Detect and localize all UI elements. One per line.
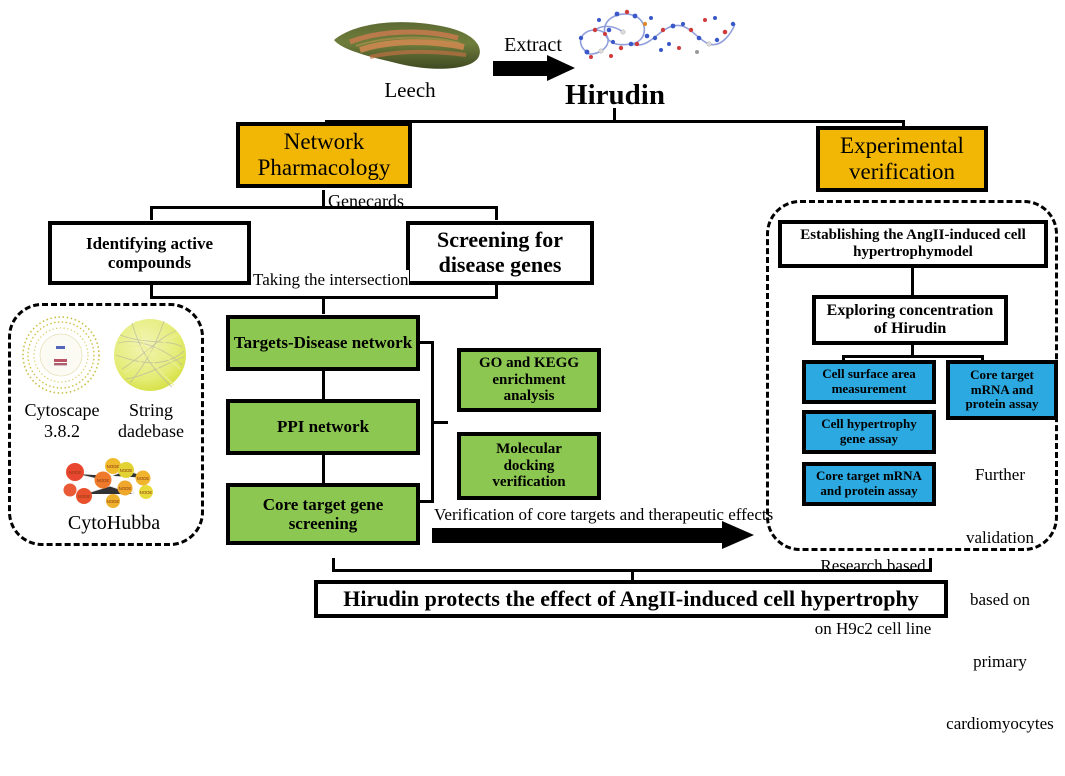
cytohubba-nodes-icon: NODENODENODE NODENODENODE NODENODENODE	[58, 448, 174, 510]
blue-left-1-line2: measurement	[832, 382, 907, 397]
experimental-verification-box[interactable]: Experimental verification	[816, 126, 988, 192]
verification-block-arrow-icon	[432, 521, 756, 549]
green-box-3-line1: Core target gene	[263, 495, 384, 514]
cytoscape-label-line2: 3.8.2	[10, 421, 114, 442]
analysis-bracket-stem	[432, 421, 448, 424]
core-target-assay-h9c2-box[interactable]: Core target mRNA and protein assay	[802, 462, 936, 506]
blue-left-1-line1: Cell surface area	[822, 367, 916, 382]
blue-left-2-line1: Cell hypertrophy	[821, 417, 916, 432]
further-line4: primary	[936, 652, 1064, 673]
cell-hypertrophy-gene-assay-box[interactable]: Cell hypertrophy gene assay	[802, 410, 936, 454]
identify-line2: compounds	[108, 253, 191, 272]
cytoscape-network-circle-icon	[20, 314, 102, 396]
further-validation-caption: Further validation based on primary card…	[936, 424, 1064, 776]
establish-line2: hypertrophymodel	[853, 244, 973, 261]
explore-line1: Exploring concentration	[827, 302, 994, 320]
docking-fill-line2: docking	[504, 458, 555, 475]
explore-line2: of Hirudin	[874, 320, 946, 338]
blue-left-3-line2: and protein assay	[820, 484, 917, 499]
leech-illustration	[330, 12, 485, 74]
green-connector-2	[322, 455, 325, 483]
molecular-docking-fill: Molecular docking verification	[461, 436, 597, 496]
experimental-verification-line2: verification	[849, 159, 955, 185]
leech-label: Leech	[355, 78, 465, 103]
go-kegg-fill-line1: GO and KEGG	[479, 355, 579, 372]
go-kegg-enrichment-fill: GO and KEGG enrichment analysis	[461, 352, 597, 408]
further-line5: cardiomyocytes	[936, 714, 1064, 735]
screening-disease-genes-box[interactable]: Screening for disease genes	[406, 221, 594, 285]
establishing-model-box[interactable]: Establishing the AngII-induced cell hype…	[778, 220, 1048, 268]
cytoscape-label-line1: Cytoscape	[10, 400, 114, 421]
svg-text:NODE: NODE	[137, 476, 150, 481]
svg-text:NODE: NODE	[107, 464, 120, 469]
screening-line1: Screening for	[437, 228, 563, 253]
establish-line1: Establishing the AngII-induced cell	[800, 227, 1025, 244]
blue-left-3-line1: Core target mRNA	[816, 469, 922, 484]
green-box-3-line2: screening	[289, 514, 358, 533]
blue-left-2-line2: gene assay	[840, 432, 898, 447]
string-label-line1: String	[104, 400, 198, 421]
svg-text:NODE: NODE	[120, 468, 133, 473]
figure-canvas: Leech Extract	[0, 0, 1065, 621]
core-target-gene-screening-box[interactable]: Core target gene screening	[226, 483, 420, 545]
green-box-2-label: PPI network	[277, 417, 369, 436]
research-line2: on H9c2 cell line	[798, 618, 948, 639]
exploring-concentration-box[interactable]: Exploring concentration of Hirudin	[812, 295, 1008, 345]
blue-right-line1: Core target	[970, 368, 1034, 383]
blue-right-line2: mRNA and	[971, 383, 1034, 398]
conclusion-banner[interactable]: Hirudin protects the effect of AngII-ind…	[314, 580, 948, 618]
green-box-1-label: Targets-Disease network	[234, 333, 412, 352]
genecards-bracket	[150, 206, 498, 220]
network-pharmacology-box[interactable]: Network Pharmacology	[236, 122, 412, 188]
identifying-active-compounds-box[interactable]: Identifying active compounds	[48, 221, 251, 285]
genecards-stem	[322, 190, 325, 206]
further-line3: based on	[936, 590, 1064, 611]
blue-right-line3: protein assay	[965, 397, 1038, 412]
experimental-connector-1	[911, 268, 914, 298]
taking-intersection-label: Taking the intersection	[253, 270, 409, 290]
cell-surface-area-box[interactable]: Cell surface area measurement	[802, 360, 936, 404]
conclusion-banner-label: Hirudin protects the effect of AngII-ind…	[343, 587, 918, 612]
green-connector-1	[322, 371, 325, 399]
extract-label: Extract	[493, 34, 573, 57]
further-line2: validation	[936, 528, 1064, 549]
docking-fill-line3: verification	[492, 474, 565, 491]
string-label-line2: dadebase	[104, 421, 198, 442]
svg-text:NODE: NODE	[140, 490, 153, 495]
svg-text:NODE: NODE	[78, 494, 91, 499]
string-database-sphere-icon	[112, 317, 188, 393]
svg-text:NODE: NODE	[69, 470, 82, 475]
further-line1: Further	[936, 465, 1064, 486]
svg-text:NODE: NODE	[97, 478, 110, 483]
screening-line2: disease genes	[439, 253, 562, 278]
hirudin-molecule-illustration	[565, 4, 740, 70]
svg-text:NODE: NODE	[119, 486, 132, 491]
ppi-network-box[interactable]: PPI network	[226, 399, 420, 455]
core-target-assay-primary-box[interactable]: Core target mRNA and protein assay	[946, 360, 1058, 420]
cytohubba-label: CytoHubba	[48, 512, 180, 535]
go-kegg-fill-line3: analysis	[504, 388, 555, 405]
svg-text:NODE: NODE	[107, 499, 120, 504]
docking-fill-line1: Molecular	[496, 441, 562, 458]
targets-disease-network-box[interactable]: Targets-Disease network	[226, 315, 420, 371]
go-kegg-fill-line2: enrichment	[492, 372, 565, 389]
intersection-stem	[322, 298, 325, 314]
identify-line1: Identifying active	[86, 234, 213, 253]
experimental-verification-line1: Experimental	[840, 133, 964, 159]
network-pharmacology-line1: Network	[284, 129, 364, 155]
network-pharmacology-line2: Pharmacology	[258, 155, 391, 181]
